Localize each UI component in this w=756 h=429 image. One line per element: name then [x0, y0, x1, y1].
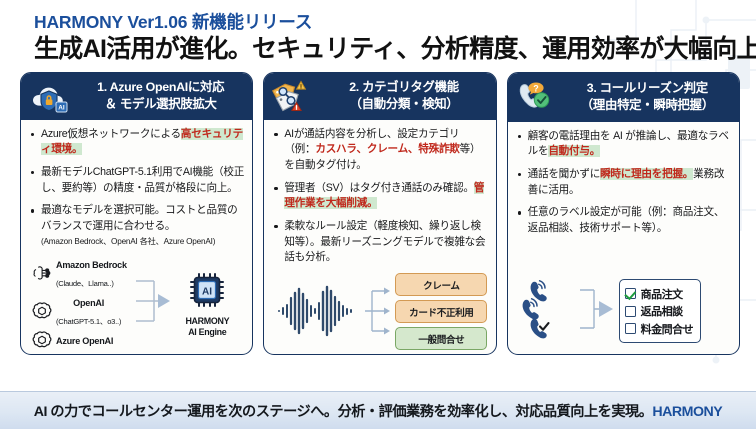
- engine-label-line1: HARMONY: [185, 316, 229, 326]
- panel-1-bullets: Azure仮想ネットワークによる高セキュリティ環境。 最新モデルChatGPT-…: [30, 127, 244, 255]
- vendor-list: Amazon Bedrock (Claude、Llama..): [32, 255, 132, 353]
- panel-2-title-line2: （自動分類・検知）: [318, 96, 489, 112]
- vendor-sub: (ChatGPT-5.1、o3..): [56, 317, 121, 326]
- tag-claim: クレーム: [395, 273, 487, 296]
- panel-3-header: ? 3. コールリーズン判定 （理由特定・瞬時把握）: [508, 73, 739, 122]
- checklist-row-return-consult[interactable]: 返品相談: [625, 303, 694, 319]
- bullet-text: 任意のラベル設定が可能（例：商品注文、返品相談、技術サポート等）。: [528, 206, 725, 234]
- calls-to-labels-arrow: [578, 278, 618, 345]
- tags-magnifier-warning-icon: [271, 77, 313, 115]
- call-reason-checklist: 商品注文 返品相談 料金問合せ: [619, 279, 702, 343]
- vendor-text: Azure OpenAI: [56, 331, 113, 349]
- panel-1-header: AI 1. Azure OpenAIに対応 ＆ モデル選択肢拡大: [21, 73, 252, 120]
- bullet-text: 管理者（SV）はタグ付き通話のみ確認。: [284, 182, 473, 194]
- svg-text:AI: AI: [58, 104, 65, 111]
- checkbox-icon[interactable]: [625, 306, 636, 317]
- vendor-openai: OpenAI (ChatGPT-5.1、o3..): [32, 293, 132, 329]
- list-item: 管理者（SV）はタグ付き通話のみ確認。管理作業を大幅削減。: [273, 181, 487, 212]
- panel-3-bullets: 顧客の電話理由を AI が推論し、最適なラベルを自動付与。 通話を聞かずに瞬時に…: [517, 129, 731, 244]
- category-tag-list: クレーム カード不正利用 一般問合せ: [395, 273, 487, 354]
- checkbox-checked-icon[interactable]: [625, 288, 636, 299]
- incoming-calls-icons: [521, 278, 577, 345]
- bullet-highlight: 自動付与。: [548, 145, 600, 157]
- panel-1-body: Azure仮想ネットワークによる高セキュリティ環境。 最新モデルChatGPT-…: [21, 120, 252, 355]
- panel-3-body: 顧客の電話理由を AI が推論し、最適なラベルを自動付与。 通話を聞かずに瞬時に…: [508, 122, 739, 354]
- footer-brand: HARMONY: [652, 404, 722, 420]
- harmony-ai-engine: AI HARMONY AI Engine: [174, 270, 240, 338]
- list-item: 最新モデルChatGPT-5.1利用でAI機能（校正し、要約等）の精度・品質が格…: [30, 165, 244, 196]
- tag-card-fraud: カード不正利用: [395, 300, 487, 323]
- panel-2-body: AIが通話内容を分析し、設定カテゴリ（例：カスハラ、クレーム、特殊詐欺等）を自動…: [264, 120, 495, 355]
- bullet-text: 通話を聞かずに: [528, 168, 600, 180]
- list-item: 顧客の電話理由を AI が推論し、最適なラベルを自動付与。: [517, 129, 731, 160]
- list-item: 通話を聞かずに瞬時に理由を把握。業務改善に活用。: [517, 167, 731, 198]
- page-header: HARMONY Ver1.06 新機能リリース 生成AI活用が進化。セキュリティ…: [0, 0, 756, 65]
- panel-2-title-line1: 2. カテゴリタグ機能: [349, 80, 459, 94]
- feature-panels: AI 1. Azure OpenAIに対応 ＆ モデル選択肢拡大 Azure仮想…: [0, 65, 756, 355]
- checklist-row-price-inquiry[interactable]: 料金問合せ: [625, 321, 694, 337]
- waveform-to-tags-arrows: [364, 283, 394, 344]
- amazon-bedrock-logo: [32, 263, 52, 283]
- panel-2-bullets: AIが通話内容を分析し、設定カテゴリ（例：カスハラ、クレーム、特殊詐欺等）を自動…: [273, 127, 487, 273]
- list-item: 柔軟なルール設定（軽度検知、繰り返し検知等）。最新リーズニングモデルで複雑な会話…: [273, 219, 487, 266]
- list-item: 任意のラベル設定が可能（例：商品注文、返品相談、技術サポート等）。: [517, 205, 731, 236]
- page-title: 生成AI活用が進化。セキュリティ、分析精度、運用効率が大幅向上。: [34, 35, 756, 65]
- vendor-text: OpenAI (ChatGPT-5.1、o3..): [56, 293, 121, 329]
- audio-waveform-icon: [275, 285, 363, 342]
- checklist-label: 返品相談: [641, 303, 683, 319]
- release-kicker: HARMONY Ver1.06 新機能リリース: [34, 12, 756, 32]
- panel-2-title: 2. カテゴリタグ機能 （自動分類・検知）: [318, 79, 489, 112]
- tag-general-inquiry: 一般問合せ: [395, 327, 487, 350]
- panel-1-title-line1: 1. Azure OpenAIに対応: [97, 80, 224, 94]
- bullet-highlight: 瞬時に理由を把握。: [600, 168, 693, 180]
- cloud-shield-lock-ai-icon: AI: [28, 77, 70, 115]
- azure-openai-logo: [32, 330, 52, 350]
- ai-chip-icon: AI: [186, 297, 228, 314]
- bullet-text: 柔軟なルール設定（軽度検知、繰り返し検知等）。最新リーズニングモデルで複雑な会話…: [284, 220, 485, 263]
- vendor-azure-openai: Azure OpenAI: [32, 330, 132, 350]
- vendor-amazon-bedrock: Amazon Bedrock (Claude、Llama..): [32, 255, 132, 291]
- engine-label: HARMONY AI Engine: [174, 316, 240, 338]
- panel-azure-openai: AI 1. Azure OpenAIに対応 ＆ モデル選択肢拡大 Azure仮想…: [20, 72, 253, 355]
- svg-text:?: ?: [533, 83, 539, 93]
- bullet-text: 最適なモデルを選択可能。コストと品質のバランスで運用に合わせる。: [41, 204, 238, 232]
- engine-label-line2: AI Engine: [188, 327, 226, 337]
- panel-category-tagging: 2. カテゴリタグ機能 （自動分類・検知） AIが通話内容を分析し、設定カテゴリ…: [263, 72, 496, 355]
- openai-logo: [32, 301, 52, 321]
- checklist-label: 商品注文: [641, 286, 683, 302]
- panel-1-diagram: Amazon Bedrock (Claude、Llama..): [30, 255, 244, 355]
- panel-1-title: 1. Azure OpenAIに対応 ＆ モデル選択肢拡大: [75, 79, 246, 112]
- checklist-row-product-order[interactable]: 商品注文: [625, 286, 694, 302]
- svg-text:AI: AI: [202, 286, 212, 297]
- vendor-name: Amazon Bedrock: [56, 260, 127, 270]
- panel-2-diagram: クレーム カード不正利用 一般問合せ: [273, 273, 487, 355]
- bullet-note: (Amazon Bedrock、OpenAI 各社、Azure OpenAI): [41, 236, 244, 248]
- infographic-page: HARMONY Ver1.06 新機能リリース 生成AI活用が進化。セキュリティ…: [0, 0, 756, 429]
- list-item: 最適なモデルを選択可能。コストと品質のバランスで運用に合わせる。(Amazon …: [30, 203, 244, 247]
- panel-2-header: 2. カテゴリタグ機能 （自動分類・検知）: [264, 73, 495, 120]
- bullet-text: Azure仮想ネットワークによる: [41, 128, 181, 140]
- list-item: AIが通話内容を分析し、設定カテゴリ（例：カスハラ、クレーム、特殊詐欺等）を自動…: [273, 127, 487, 174]
- footer-banner: AI の力でコールセンター運用を次のステージへ。分析・評価業務を効率化し、対応品…: [0, 391, 756, 429]
- checkbox-icon[interactable]: [625, 323, 636, 334]
- bullet-red: カスハラ、クレーム、特殊詐欺: [315, 143, 459, 155]
- vendor-text: Amazon Bedrock (Claude、Llama..): [56, 255, 127, 291]
- panel-3-diagram: 商品注文 返品相談 料金問合せ: [517, 278, 731, 354]
- footer-message: AI の力でコールセンター運用を次のステージへ。分析・評価業務を効率化し、対応品…: [34, 404, 653, 420]
- panel-3-title-line1: 3. コールリーズン判定: [587, 81, 708, 95]
- phone-question-check-icon: ?: [515, 78, 557, 116]
- checklist-label: 料金問合せ: [641, 321, 694, 337]
- panel-3-title: 3. コールリーズン判定 （理由特定・瞬時把握）: [562, 80, 733, 113]
- panel-call-reason: ? 3. コールリーズン判定 （理由特定・瞬時把握） 顧客の電話理由を AI が…: [507, 72, 740, 355]
- vendor-to-engine-arrow: [134, 271, 172, 336]
- vendor-sub: (Claude、Llama..): [56, 279, 114, 288]
- footer-text: AI の力でコールセンター運用を次のステージへ。分析・評価業務を効率化し、対応品…: [34, 401, 722, 421]
- vendor-name: Azure OpenAI: [56, 336, 113, 346]
- vendor-name: OpenAI: [73, 298, 104, 308]
- panel-1-title-line2: ＆ モデル選択肢拡大: [75, 96, 246, 112]
- list-item: Azure仮想ネットワークによる高セキュリティ環境。: [30, 127, 244, 158]
- panel-3-title-line2: （理由特定・瞬時把握）: [562, 97, 733, 113]
- bullet-text: 最新モデルChatGPT-5.1利用でAI機能（校正し、要約等）の精度・品質が格…: [41, 166, 244, 194]
